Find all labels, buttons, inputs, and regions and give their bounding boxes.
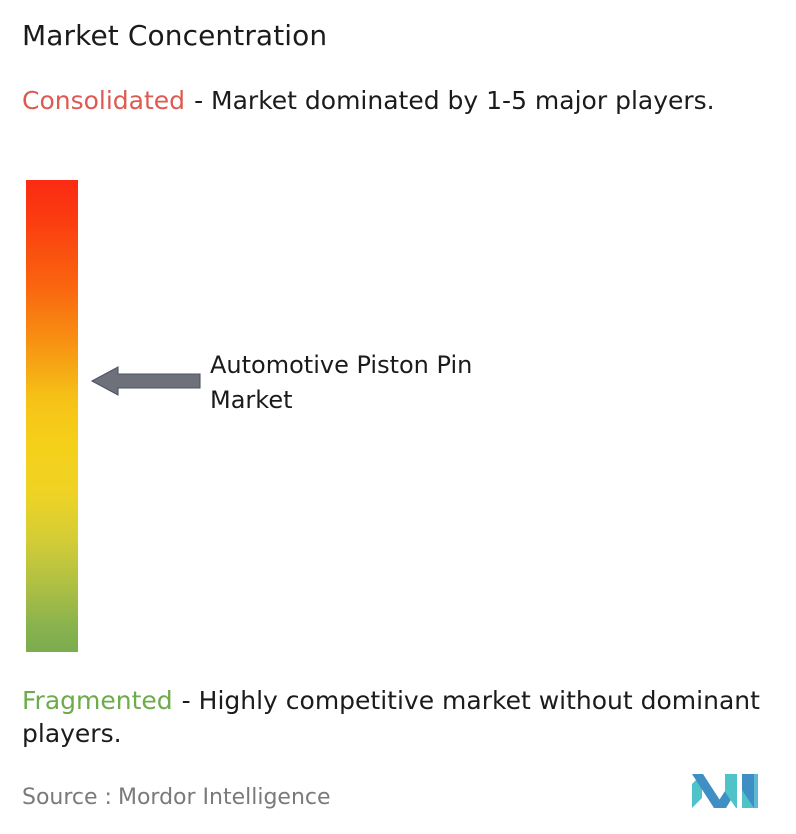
mordor-intelligence-logo-icon <box>692 770 766 814</box>
caption-fragmented: Fragmented- Highly competitive market wi… <box>22 684 788 750</box>
marker-label-line-2: Market <box>210 383 610 418</box>
legend-keyword-fragmented: Fragmented <box>22 686 173 715</box>
legend-keyword-consolidated: Consolidated <box>22 86 185 115</box>
marker-label-line-1: Automotive Piston Pin <box>210 348 610 383</box>
market-concentration-gradient-bar <box>26 180 78 652</box>
source-note: Source :Mordor Intelligence <box>22 783 331 813</box>
marker-callout-label: Automotive Piston Pin Market <box>210 348 610 418</box>
page-title: Market Concentration <box>22 18 327 54</box>
caption-consolidated: Consolidated- Market dominated by 1-5 ma… <box>22 84 774 117</box>
caption-consolidated-description: - Market dominated by 1-5 major players. <box>194 86 715 115</box>
source-label: Source : <box>22 785 112 810</box>
source-value: Mordor Intelligence <box>118 785 331 810</box>
market-concentration-infographic: Market Concentration Consolidated- Marke… <box>0 0 796 834</box>
pointer-arrow-icon <box>88 362 202 400</box>
